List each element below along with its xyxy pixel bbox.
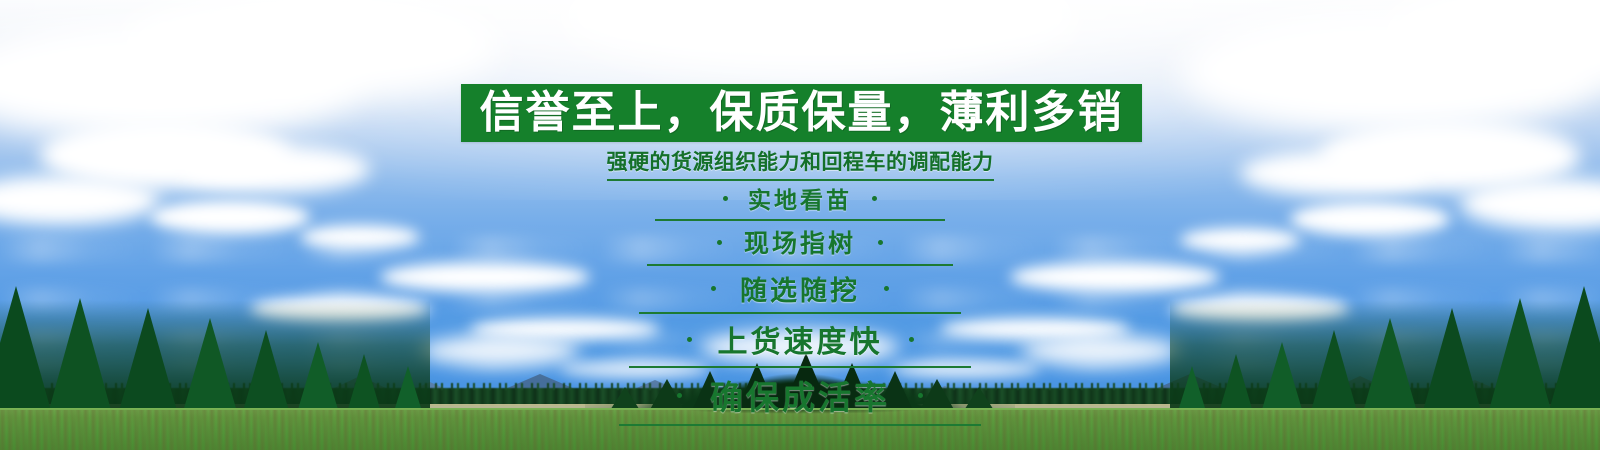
bullet-dot-icon	[878, 240, 883, 245]
feature-item: 现场指树	[647, 221, 953, 266]
feature-item: 实地看苗	[655, 178, 945, 221]
promotional-banner: 信誉至上，保质保量，薄利多销 强硬的货源组织能力和回程车的调配能力 实地看苗 现…	[0, 0, 1600, 450]
bullet-dot-icon	[687, 337, 692, 342]
bullet-dot-icon	[711, 286, 716, 291]
feature-item: 上货速度快	[629, 314, 971, 368]
feature-label: 随选随挖	[740, 269, 860, 308]
subtitle-text: 强硬的货源组织能力和回程车的调配能力	[607, 146, 994, 181]
headline-banner: 信誉至上，保质保量，薄利多销	[461, 84, 1142, 142]
headline-text: 信誉至上，保质保量，薄利多销	[480, 91, 1124, 135]
bullet-dot-icon	[872, 196, 877, 201]
bullet-dot-icon	[918, 393, 923, 398]
text-overlay: 信誉至上，保质保量，薄利多销 强硬的货源组织能力和回程车的调配能力 实地看苗 现…	[0, 0, 1600, 450]
subtitle-row: 强硬的货源组织能力和回程车的调配能力	[0, 146, 1600, 181]
feature-item: 随选随挖	[639, 266, 961, 314]
bullet-dot-icon	[717, 240, 722, 245]
feature-label: 上货速度快	[718, 317, 883, 361]
feature-list: 实地看苗 现场指树 随选随挖 上货速度快 确保成活率	[0, 178, 1600, 426]
feature-label: 确保成活率	[710, 371, 890, 419]
feature-item: 确保成活率	[619, 368, 981, 426]
bullet-dot-icon	[723, 196, 728, 201]
bullet-dot-icon	[909, 337, 914, 342]
bullet-dot-icon	[884, 286, 889, 291]
bullet-dot-icon	[677, 393, 682, 398]
feature-label: 现场指树	[744, 224, 856, 260]
feature-label: 实地看苗	[748, 181, 852, 215]
